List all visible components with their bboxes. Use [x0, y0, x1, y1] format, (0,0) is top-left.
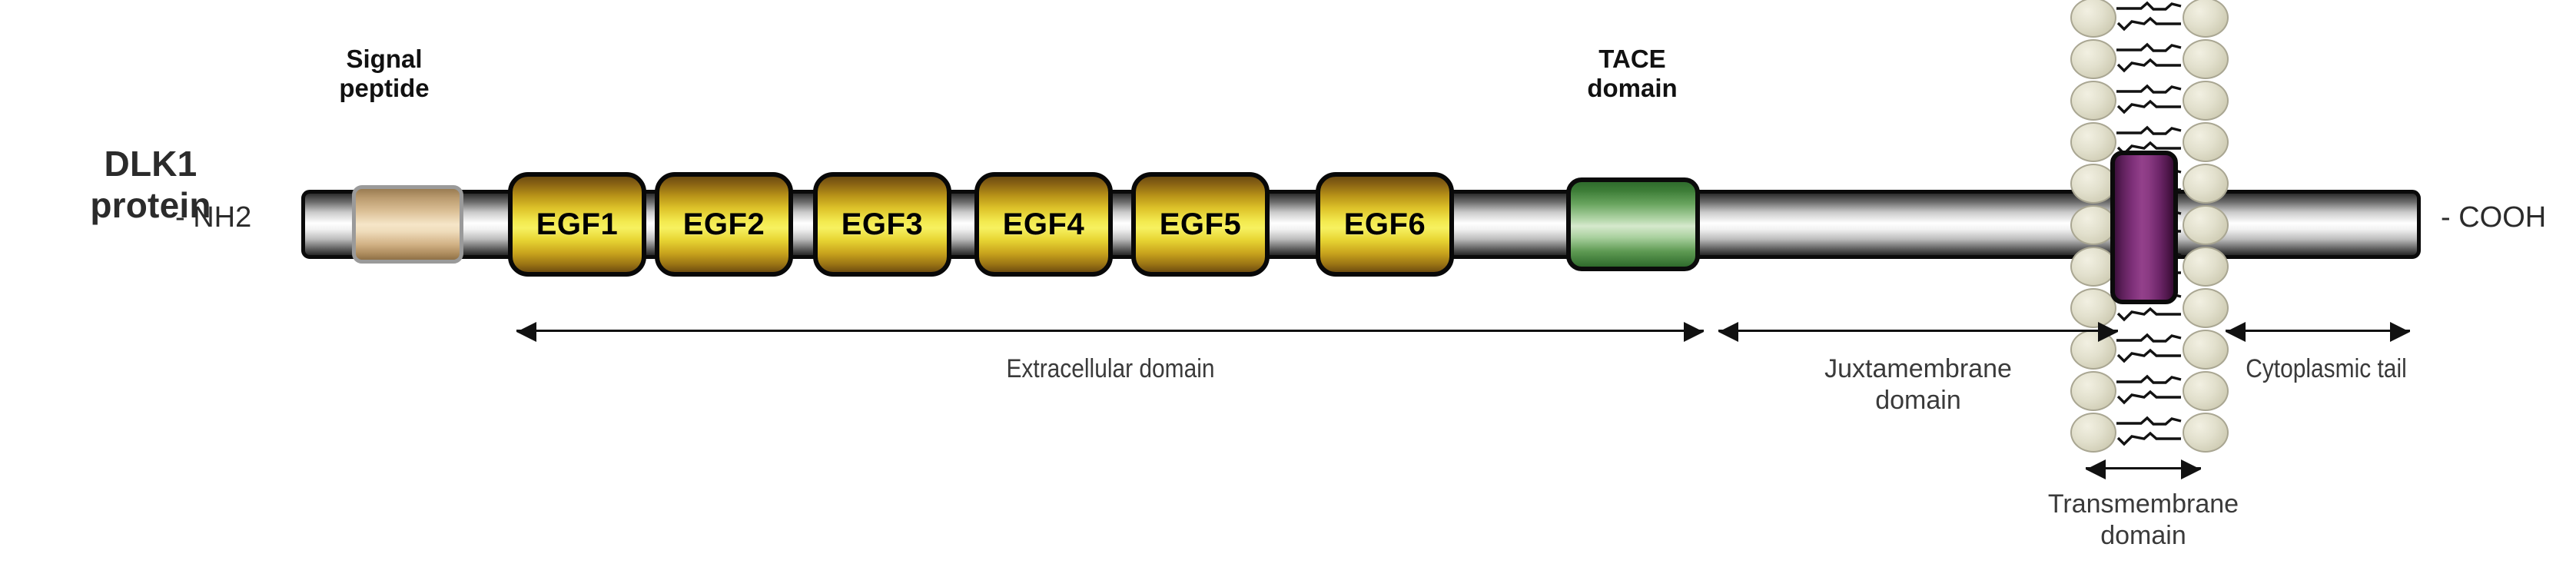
egf6-box: EGF6 [1316, 172, 1454, 277]
lipid-head-icon [2070, 205, 2116, 245]
lipid-head-icon [2070, 0, 2116, 38]
lipid-head-icon [2183, 247, 2229, 287]
transmembrane-label-line2: domain [1963, 520, 2324, 552]
juxtamembrane-domain-arrow [1718, 319, 2118, 342]
egf4-box: EGF4 [974, 172, 1113, 277]
transmembrane-label-line1: Transmembrane [1963, 489, 2324, 520]
arrow-head-right [2181, 459, 2201, 479]
lipid-head-icon [2070, 81, 2116, 121]
lipid-head-icon [2070, 247, 2116, 287]
arrow-head-right [1684, 322, 1704, 342]
phospholipid-pair [2067, 37, 2232, 81]
arrow-head-left [516, 322, 536, 342]
egf6-label: EGF6 [1344, 207, 1426, 242]
egf2-box: EGF2 [655, 172, 793, 277]
lipid-head-icon [2183, 164, 2229, 204]
tace-domain-box [1566, 177, 1700, 271]
lipid-head-icon [2070, 39, 2116, 79]
tace-label-line1: TACE [1529, 45, 1735, 74]
egf3-box: EGF3 [813, 172, 951, 277]
lipid-head-icon [2183, 81, 2229, 121]
egf5-label: EGF5 [1160, 207, 1241, 242]
arrow-head-left [2086, 459, 2106, 479]
egf5-box: EGF5 [1131, 172, 1270, 277]
signal-peptide-box [352, 185, 463, 264]
lipid-head-icon [2070, 122, 2116, 162]
transmembrane-domain-arrow [2086, 456, 2201, 479]
lipid-head-icon [2183, 122, 2229, 162]
phospholipid-pair [2067, 410, 2232, 455]
lipid-head-icon [2183, 39, 2229, 79]
lipid-head-icon [2183, 288, 2229, 328]
lipid-tail-icon [2115, 372, 2184, 410]
lipid-head-icon [2183, 0, 2229, 38]
lipid-tails [2115, 413, 2184, 452]
lipid-tails [2115, 40, 2184, 78]
transmembrane-domain-label: Transmembrane domain [1963, 489, 2324, 552]
lipid-tail-icon [2115, 0, 2184, 37]
lipid-head-icon [2183, 413, 2229, 453]
arrow-shaft [516, 330, 1704, 332]
lipid-tails [2115, 330, 2184, 369]
arrow-shaft [2226, 330, 2410, 332]
c-terminus-label: - COOH [2441, 201, 2546, 234]
egf4-label: EGF4 [1003, 207, 1084, 242]
tace-domain-label: TACE domain [1529, 45, 1735, 104]
n-terminus-label: - NH2 [175, 201, 251, 234]
lipid-tails [2115, 81, 2184, 120]
transmembrane-box [2110, 151, 2178, 304]
juxtamembrane-domain-label: Juxtamembrane domain [1718, 353, 2118, 416]
phospholipid-pair [2067, 78, 2232, 123]
arrow-head-left [1718, 322, 1738, 342]
egf1-label: EGF1 [536, 207, 618, 242]
signal-peptide-label-line1: Signal [290, 45, 478, 74]
protein-name-line1: DLK1 [20, 143, 281, 184]
egf3-label: EGF3 [842, 207, 923, 242]
juxtamembrane-label-line1: Juxtamembrane [1718, 353, 2118, 385]
signal-peptide-label-line2: peptide [290, 74, 478, 103]
extracellular-domain-label: Extracellular domain [606, 353, 1614, 385]
cytoplasmic-tail-arrow [2226, 319, 2410, 342]
juxtamembrane-label-line2: domain [1718, 385, 2118, 416]
lipid-tail-icon [2115, 330, 2184, 369]
lipid-tails [2115, 372, 2184, 410]
arrow-head-right [2098, 322, 2118, 342]
arrow-shaft [1718, 330, 2118, 332]
lipid-tail-icon [2115, 81, 2184, 120]
phospholipid-pair [2067, 0, 2232, 40]
lipid-head-icon [2070, 164, 2116, 204]
lipid-head-icon [2183, 205, 2229, 245]
arrow-head-left [2226, 322, 2246, 342]
extracellular-domain-arrow [516, 319, 1704, 342]
lipid-tail-icon [2115, 40, 2184, 78]
lipid-tails [2115, 0, 2184, 37]
tace-label-line2: domain [1529, 74, 1735, 103]
arrow-head-right [2390, 322, 2410, 342]
dlk1-domain-diagram: DLK1 protein - NH2 - COOH Signal peptide… [0, 0, 2576, 587]
lipid-head-icon [2070, 413, 2116, 453]
signal-peptide-label: Signal peptide [290, 45, 478, 104]
egf2-label: EGF2 [683, 207, 765, 242]
egf1-box: EGF1 [508, 172, 646, 277]
cytoplasmic-tail-label: Cytoplasmic tail [2215, 353, 2438, 385]
lipid-tail-icon [2115, 413, 2184, 452]
